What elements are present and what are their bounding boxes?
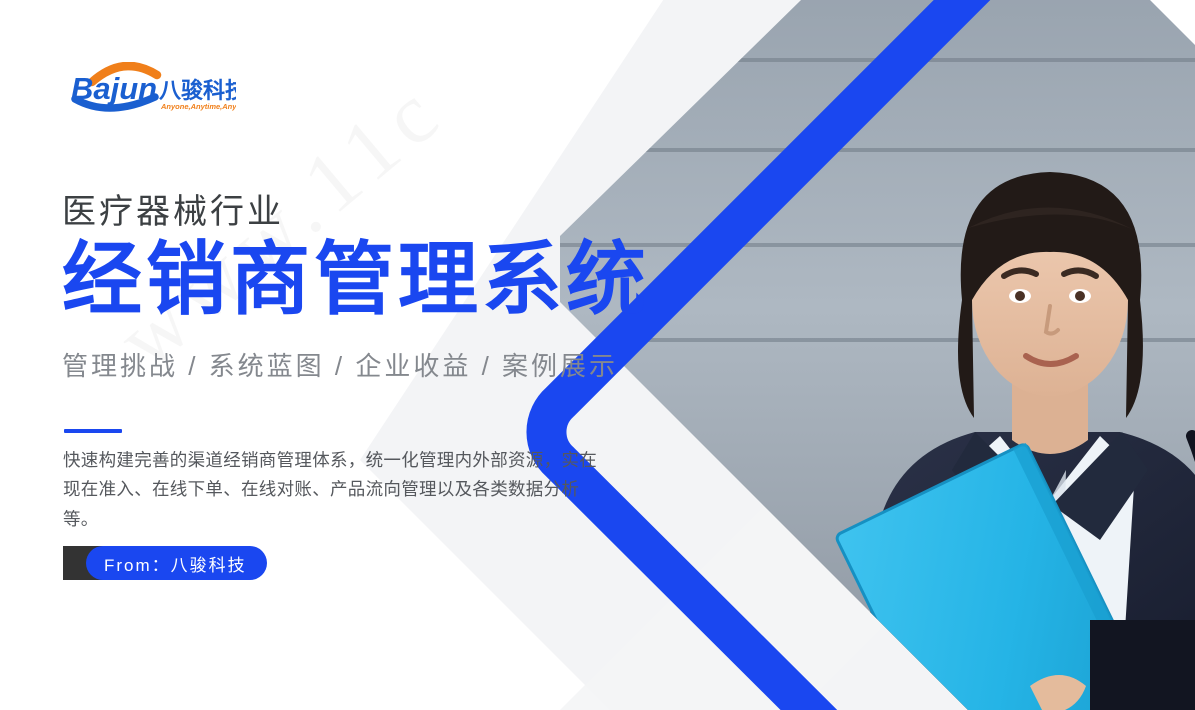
- logo-icon: Bajun 八骏科技 Anyone,Anytime,Anywhere!: [66, 62, 236, 112]
- blue-chevron-accent: [546, 0, 1120, 710]
- hero-photo: [560, 0, 1195, 710]
- industry-eyebrow: 医疗器械行业: [62, 184, 284, 233]
- description-paragraph: 快速构建完善的渠道经销商管理体系，统一化管理内外部资源，实在现在准入、在线下单、…: [63, 446, 603, 534]
- brand-logo[interactable]: Bajun 八骏科技 Anyone,Anytime,Anywhere!: [66, 62, 236, 112]
- from-badge-label: From：八骏科技: [86, 546, 267, 580]
- svg-text:Anyone,Anytime,Anywhere!: Anyone,Anytime,Anywhere!: [160, 102, 236, 111]
- presentation-slide: www.11c Bajun 八骏科技 Anyone,Anytime,Anywhe…: [0, 0, 1195, 710]
- accent-divider: [64, 429, 122, 433]
- svg-text:Bajun: Bajun: [71, 71, 157, 106]
- page-title: 经销商管理系统: [62, 240, 650, 320]
- svg-text:八骏科技: 八骏科技: [159, 78, 236, 103]
- agenda-subtitle: 管理挑战 / 系统蓝图 / 企业收益 / 案例展示: [62, 346, 618, 383]
- from-badge: From：八骏科技: [63, 546, 267, 580]
